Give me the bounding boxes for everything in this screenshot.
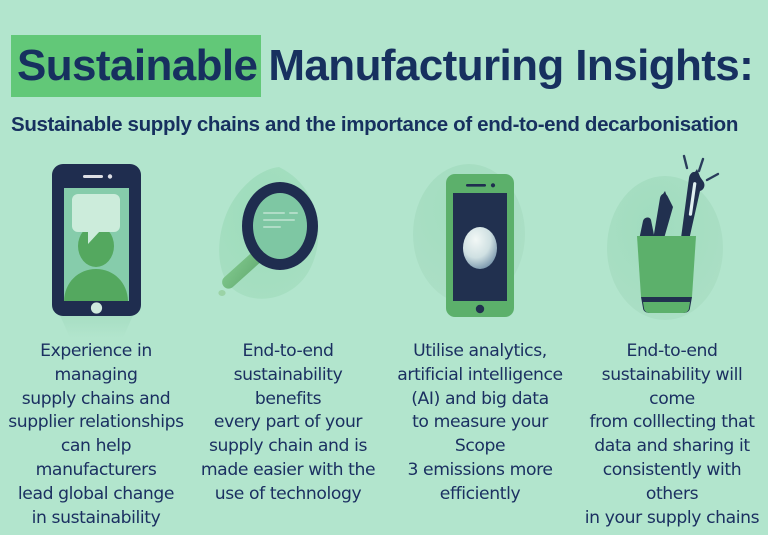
column-2-line-6: use of technology bbox=[198, 483, 378, 507]
column-1-line-2: supply chains and bbox=[6, 388, 186, 412]
column-group: Experience in managing supply chains and… bbox=[0, 150, 768, 535]
column-4-text: End-to-end sustainability will come from… bbox=[576, 340, 768, 530]
column-3-line-5: 3 emissions more bbox=[390, 459, 570, 483]
sparkle-icon bbox=[684, 156, 718, 180]
column-4-icon-area bbox=[576, 150, 768, 340]
column-4-line-4: data and sharing it bbox=[582, 435, 762, 459]
column-2: End-to-end sustainability benefits every… bbox=[192, 150, 384, 535]
column-2-icon-area bbox=[192, 150, 384, 340]
column-1-line-3: supplier relationships bbox=[6, 411, 186, 435]
pen-cup-icon bbox=[577, 150, 767, 340]
column-1-line-5: lead global change bbox=[6, 483, 186, 507]
column-3-line-2: artificial intelligence bbox=[390, 364, 570, 388]
column-2-line-1: End-to-end bbox=[198, 340, 378, 364]
column-1-line-6: in sustainability bbox=[6, 507, 186, 531]
column-1-line-4: can help manufacturers bbox=[6, 435, 186, 483]
column-1-icon-area bbox=[0, 150, 192, 340]
column-4-line-5: consistently with others bbox=[582, 459, 762, 507]
column-4: End-to-end sustainability will come from… bbox=[576, 150, 768, 535]
header: SustainableManufacturing Insights: Susta… bbox=[0, 0, 768, 150]
column-3-line-6: efficiently bbox=[390, 483, 570, 507]
column-3-line-1: Utilise analytics, bbox=[390, 340, 570, 364]
column-2-line-3: every part of your bbox=[198, 411, 378, 435]
column-4-line-1: End-to-end bbox=[582, 340, 762, 364]
page-title: SustainableManufacturing Insights: bbox=[11, 44, 753, 88]
title-remainder: Manufacturing Insights: bbox=[261, 41, 753, 90]
column-3-line-4: to measure your Scope bbox=[390, 411, 570, 459]
column-3-text: Utilise analytics, artificial intelligen… bbox=[384, 340, 576, 507]
column-3-line-3: (AI) and big data bbox=[390, 388, 570, 412]
column-2-line-2: sustainability benefits bbox=[198, 364, 378, 412]
column-2-text: End-to-end sustainability benefits every… bbox=[192, 340, 384, 507]
smartphone-person-chat-icon bbox=[1, 150, 191, 340]
column-2-line-4: supply chain and is bbox=[198, 435, 378, 459]
column-1-text: Experience in managing supply chains and… bbox=[0, 340, 192, 530]
column-1-line-1: Experience in managing bbox=[6, 340, 186, 388]
smartphone-analytics-icon bbox=[385, 150, 575, 340]
column-4-line-3: from colllecting that bbox=[582, 411, 762, 435]
column-4-line-2: sustainability will come bbox=[582, 364, 762, 412]
infographic-root: SustainableManufacturing Insights: Susta… bbox=[0, 0, 768, 535]
magnifying-glass-icon bbox=[193, 150, 383, 340]
column-1: Experience in managing supply chains and… bbox=[0, 150, 192, 535]
column-3-icon-area bbox=[384, 150, 576, 340]
title-highlighted-word: Sustainable bbox=[11, 35, 261, 97]
column-4-line-6: in your supply chains bbox=[582, 507, 762, 531]
column-2-line-5: made easier with the bbox=[198, 459, 378, 483]
page-subtitle: Sustainable supply chains and the import… bbox=[11, 113, 738, 137]
column-3: Utilise analytics, artificial intelligen… bbox=[384, 150, 576, 535]
